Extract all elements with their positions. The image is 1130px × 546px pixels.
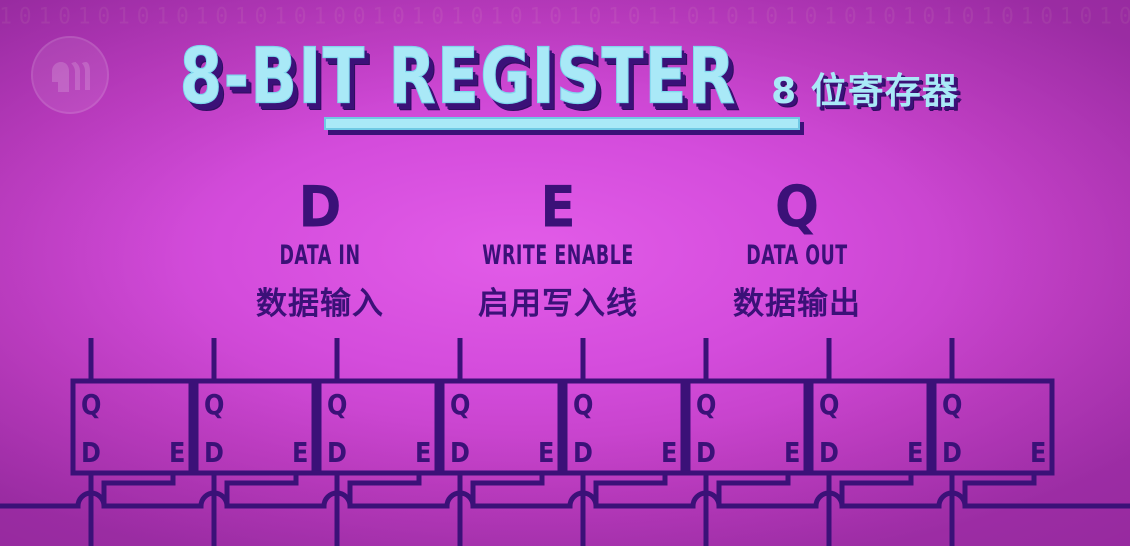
- register-diagram-canvas: 1010101010101010101001010101010101011010…: [0, 0, 1130, 546]
- latch-box: [934, 381, 1052, 473]
- latch-circuit-svg: [0, 0, 1130, 546]
- latch-box: [73, 381, 191, 473]
- latch-box: [688, 381, 806, 473]
- latch-box: [319, 381, 437, 473]
- latch-box: [811, 381, 929, 473]
- latch-box: [196, 381, 314, 473]
- latch-box: [565, 381, 683, 473]
- latch-box: [442, 381, 560, 473]
